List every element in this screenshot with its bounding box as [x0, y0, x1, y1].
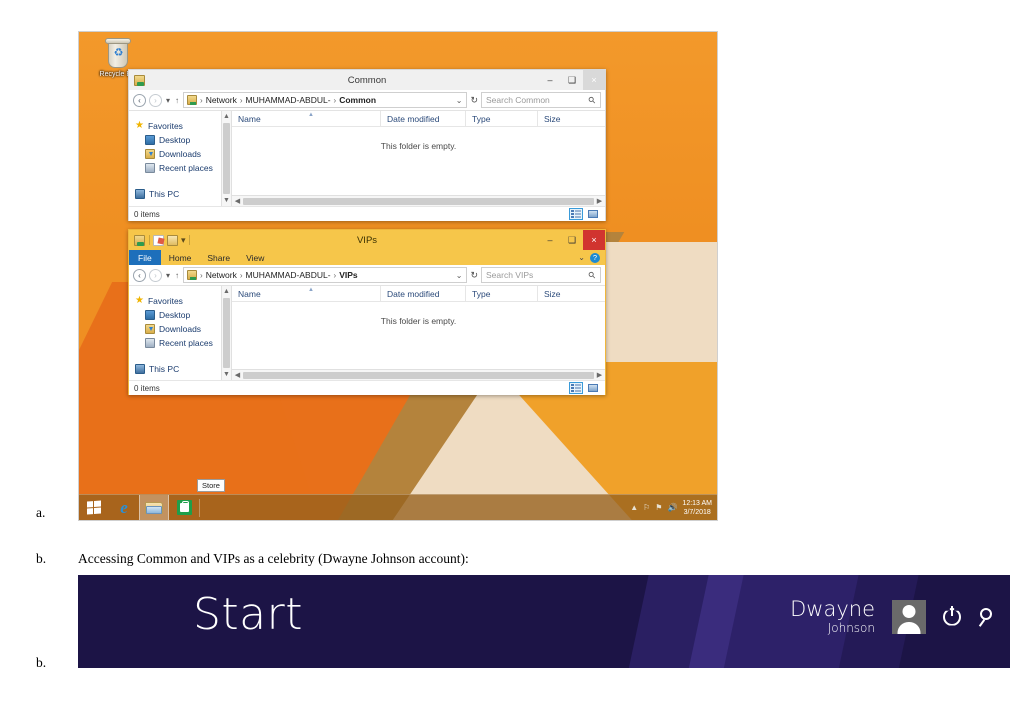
scrollbar-thumb[interactable]	[223, 298, 230, 368]
close-button-vips[interactable]: ×	[583, 230, 605, 250]
system-tray: ▲ ⚐ ⚑ 🔊 12:13 AM 3/7/2018	[630, 499, 717, 517]
large-icons-view-icon[interactable]	[586, 382, 600, 394]
empty-folder-message-common: This folder is empty.	[232, 127, 605, 195]
window-common[interactable]: Common – ❑ × ‹ › ▾ ↑ › Network › MUHAMMA…	[128, 69, 606, 221]
horizontal-scrollbar-common[interactable]: ◀ ▶	[232, 195, 605, 206]
window-title-common: Common	[129, 75, 605, 86]
close-button-common[interactable]: ×	[583, 70, 605, 90]
windows-logo-icon	[87, 501, 101, 515]
taskbar-tooltip: Store	[197, 479, 225, 492]
nav-label: Favorites	[148, 296, 183, 306]
nav-item-this-pc[interactable]: This PC	[135, 362, 221, 376]
column-label: Date modified	[387, 289, 439, 299]
scroll-down-arrow[interactable]: ▼	[223, 371, 230, 378]
search-icon: ⚲	[586, 94, 598, 106]
breadcrumb-sep: ›	[200, 271, 203, 280]
scroll-up-arrow[interactable]: ▲	[223, 113, 230, 120]
column-label: Type	[472, 289, 490, 299]
status-bar-common: 0 items	[129, 206, 605, 221]
breadcrumb-sep: ›	[240, 271, 243, 280]
nav-item-desktop[interactable]: Desktop	[135, 133, 221, 147]
desktop-icon	[145, 135, 155, 145]
figure-start-screen: Start Dwayne Johnson	[78, 575, 1010, 668]
forward-button-vips[interactable]: ›	[149, 269, 162, 282]
breadcrumb-folder-icon	[187, 95, 197, 105]
nav-label: Recent places	[159, 338, 213, 348]
window-body-vips: ★ Favorites Desktop Downloads Recent pla…	[129, 286, 605, 380]
address-dropdown-icon[interactable]: ⌄	[455, 271, 464, 280]
power-icon[interactable]	[943, 608, 961, 626]
document-page: a. ♻ Recycle Bin Common	[0, 0, 1024, 701]
titlebar-common[interactable]: Common – ❑ ×	[129, 70, 605, 90]
window-body-common: ★ Favorites Desktop Downloads Recent pla…	[129, 111, 605, 206]
start-title: Start	[193, 589, 303, 640]
nav-label: Recent places	[159, 163, 213, 173]
breadcrumb-vips[interactable]: › Network › MUHAMMAD-ABDUL- › VIPs ⌄	[183, 267, 467, 283]
taskbar-clock[interactable]: 12:13 AM 3/7/2018	[682, 499, 712, 517]
file-explorer-icon	[145, 501, 163, 515]
downloads-icon	[145, 149, 155, 159]
column-headers-vips: Name ▲ Date modified Type Size	[232, 286, 605, 302]
network-folder-icon	[134, 235, 145, 246]
action-center-icon[interactable]: ⚑	[655, 503, 662, 512]
address-bar-vips: ‹ › ▾ ↑ › Network › MUHAMMAD-ABDUL- › VI…	[129, 265, 605, 286]
search-placeholder-vips: Search VIPs	[486, 270, 533, 280]
list-marker-b-caption: b.	[36, 551, 46, 567]
taskbar-divider	[199, 499, 200, 517]
nav-label: This PC	[149, 364, 179, 374]
status-bar-vips: 0 items	[129, 380, 605, 395]
nav-item-recent-places[interactable]: Recent places	[135, 336, 221, 350]
column-label: Size	[544, 289, 561, 299]
nav-label: Favorites	[148, 121, 183, 131]
breadcrumb-item-current[interactable]: Common	[339, 95, 376, 105]
column-header-type[interactable]: Type	[465, 111, 537, 126]
address-dropdown-icon[interactable]: ⌄	[455, 96, 464, 105]
scroll-up-arrow[interactable]: ▲	[223, 288, 230, 295]
taskbar: e ▲ ⚐ ⚑ 🔊 12:13 AM 3/7/2018	[79, 494, 717, 520]
up-button-vips[interactable]: ↑	[174, 271, 180, 280]
taskbar-item-internet-explorer[interactable]: e	[109, 495, 139, 521]
nav-label: Downloads	[159, 324, 201, 334]
nav-item-desktop[interactable]: Desktop	[135, 308, 221, 322]
item-count-common: 0 items	[134, 210, 160, 219]
refresh-button-common[interactable]: ↻	[470, 95, 478, 106]
customize-dropdown-icon[interactable]: ▾	[181, 235, 186, 246]
list-marker-b-figure: b.	[36, 655, 46, 671]
recycle-bin-icon: ♻	[101, 36, 135, 70]
details-view-icon[interactable]	[569, 208, 583, 220]
nav-item-recent-places[interactable]: Recent places	[135, 161, 221, 175]
search-box-common[interactable]: Search Common ⚲	[481, 92, 601, 108]
user-first-name: Dwayne	[790, 599, 875, 620]
recent-locations-icon[interactable]: ▾	[165, 271, 171, 280]
nav-label: Desktop	[159, 310, 190, 320]
details-view-icon[interactable]	[569, 382, 583, 394]
properties-icon[interactable]	[167, 235, 178, 246]
breadcrumb-item-current[interactable]: VIPs	[339, 270, 357, 280]
breadcrumb-sep: ›	[334, 96, 337, 105]
clock-time: 12:13 AM	[682, 499, 712, 508]
column-header-date-modified[interactable]: Date modified	[380, 111, 465, 126]
start-button[interactable]	[79, 495, 109, 521]
figure-desktop-screenshot: ♻ Recycle Bin Common – ❑ × ‹ › ▾ ↑	[78, 31, 718, 521]
column-header-type[interactable]: Type	[465, 286, 537, 301]
new-folder-icon[interactable]	[153, 235, 164, 246]
recent-locations-icon[interactable]: ▾	[165, 96, 171, 105]
taskbar-item-store[interactable]	[169, 495, 199, 521]
help-icon[interactable]: ?	[590, 253, 600, 263]
column-label: Name	[238, 114, 261, 124]
this-pc-icon	[135, 189, 145, 199]
nav-item-favorites[interactable]: ★ Favorites	[135, 294, 221, 308]
recent-places-icon	[145, 163, 155, 173]
user-avatar-icon[interactable]	[892, 600, 926, 634]
up-button-common[interactable]: ↑	[174, 96, 180, 105]
breadcrumb-sep: ›	[334, 271, 337, 280]
maximize-button-vips[interactable]: ❑	[561, 230, 583, 250]
breadcrumb-item-network[interactable]: Network	[206, 95, 237, 105]
item-count-vips: 0 items	[134, 384, 160, 393]
column-header-name[interactable]: Name ▲	[232, 111, 380, 126]
breadcrumb-common[interactable]: › Network › MUHAMMAD-ABDUL- › Common ⌄	[183, 92, 467, 108]
nav-label: Desktop	[159, 135, 190, 145]
file-pane-common: Name ▲ Date modified Type Size T	[232, 111, 605, 206]
empty-folder-message-vips: This folder is empty.	[232, 302, 605, 369]
scroll-right-arrow[interactable]: ▶	[594, 371, 605, 379]
internet-explorer-icon: e	[120, 499, 128, 516]
sort-ascending-icon: ▲	[308, 112, 314, 118]
address-bar-common: ‹ › ▾ ↑ › Network › MUHAMMAD-ABDUL- › Co…	[129, 90, 605, 111]
navigation-pane-vips: ★ Favorites Desktop Downloads Recent pla…	[129, 286, 221, 380]
user-last-name: Johnson	[790, 622, 875, 634]
column-header-size[interactable]: Size	[537, 111, 597, 126]
nav-item-downloads[interactable]: Downloads	[135, 147, 221, 161]
star-icon: ★	[135, 121, 144, 131]
tab-share[interactable]: Share	[199, 250, 238, 265]
minimize-button-common[interactable]: –	[539, 70, 561, 90]
scroll-down-arrow[interactable]: ▼	[223, 197, 230, 204]
caption-text-b: Accessing Common and VIPs as a celebrity…	[78, 551, 469, 567]
tab-home[interactable]: Home	[161, 250, 200, 265]
star-icon: ★	[135, 296, 144, 306]
breadcrumb-sep: ›	[240, 96, 243, 105]
column-label: Name	[238, 289, 261, 299]
column-header-date-modified[interactable]: Date modified	[380, 286, 465, 301]
back-button-vips[interactable]: ‹	[133, 269, 146, 282]
scroll-right-arrow[interactable]: ▶	[594, 197, 605, 205]
quick-access-toolbar[interactable]: ▾	[149, 235, 190, 246]
taskbar-item-file-explorer[interactable]	[139, 495, 169, 521]
scroll-left-arrow[interactable]: ◀	[232, 371, 243, 379]
forward-button-common[interactable]: ›	[149, 94, 162, 107]
network-folder-icon	[134, 75, 145, 86]
column-label: Type	[472, 114, 490, 124]
breadcrumb-item-computer[interactable]: MUHAMMAD-ABDUL-	[246, 95, 331, 105]
nav-item-this-pc[interactable]: This PC	[135, 187, 221, 201]
volume-icon[interactable]: 🔊	[667, 503, 677, 512]
search-icon: ⚲	[586, 269, 598, 281]
search-placeholder-common: Search Common	[486, 95, 550, 105]
nav-pane-scrollbar-vips[interactable]: ▲ ▼	[221, 286, 232, 380]
titlebar-vips[interactable]: ▾ VIPs – ❑ ×	[129, 230, 605, 250]
column-header-name[interactable]: Name ▲	[232, 286, 380, 301]
scrollbar-thumb[interactable]	[243, 198, 594, 205]
ribbon-tabs-vips: File Home Share View ⌄ ?	[129, 250, 605, 265]
scrollbar-thumb[interactable]	[223, 123, 230, 194]
back-button-common[interactable]: ‹	[133, 94, 146, 107]
refresh-button-vips[interactable]: ↻	[470, 270, 478, 281]
recent-places-icon	[145, 338, 155, 348]
nav-label: This PC	[149, 189, 179, 199]
show-hidden-icons-icon[interactable]: ▲	[630, 503, 638, 512]
tab-file[interactable]: File	[129, 250, 161, 265]
start-user-area: Dwayne Johnson	[790, 599, 996, 634]
scroll-left-arrow[interactable]: ◀	[232, 197, 243, 205]
sort-ascending-icon: ▲	[308, 287, 314, 293]
nav-label: Downloads	[159, 149, 201, 159]
clock-date: 3/7/2018	[682, 508, 712, 517]
user-name-block[interactable]: Dwayne Johnson	[790, 599, 875, 634]
column-headers-common: Name ▲ Date modified Type Size	[232, 111, 605, 127]
navigation-pane-common: ★ Favorites Desktop Downloads Recent pla…	[129, 111, 221, 206]
large-icons-view-icon[interactable]	[586, 208, 600, 220]
breadcrumb-item-network[interactable]: Network	[206, 270, 237, 280]
this-pc-icon	[135, 364, 145, 374]
nav-item-favorites[interactable]: ★ Favorites	[135, 119, 221, 133]
list-marker-a: a.	[36, 505, 45, 521]
store-icon	[177, 500, 192, 515]
scrollbar-thumb[interactable]	[243, 372, 594, 379]
search-box-vips[interactable]: Search VIPs ⚲	[481, 267, 601, 283]
column-label: Date modified	[387, 114, 439, 124]
nav-item-downloads[interactable]: Downloads	[135, 322, 221, 336]
network-icon[interactable]: ⚐	[643, 503, 650, 512]
horizontal-scrollbar-vips[interactable]: ◀ ▶	[232, 369, 605, 380]
downloads-icon	[145, 324, 155, 334]
breadcrumb-sep: ›	[200, 96, 203, 105]
column-label: Size	[544, 114, 561, 124]
window-title-vips: VIPs	[129, 235, 605, 246]
breadcrumb-folder-icon	[187, 270, 197, 280]
minimize-button-vips[interactable]: –	[539, 230, 561, 250]
tab-view[interactable]: View	[238, 250, 272, 265]
maximize-button-common[interactable]: ❑	[561, 70, 583, 90]
column-header-size[interactable]: Size	[537, 286, 597, 301]
window-vips[interactable]: ▾ VIPs – ❑ × File Home Share View ⌄ ?	[128, 229, 606, 395]
breadcrumb-item-computer[interactable]: MUHAMMAD-ABDUL-	[246, 270, 331, 280]
nav-pane-scrollbar-common[interactable]: ▲ ▼	[221, 111, 232, 206]
file-pane-vips: Name ▲ Date modified Type Size T	[232, 286, 605, 380]
chevron-down-icon[interactable]: ⌄	[578, 253, 585, 262]
search-icon[interactable]	[978, 608, 996, 626]
desktop-icon	[145, 310, 155, 320]
